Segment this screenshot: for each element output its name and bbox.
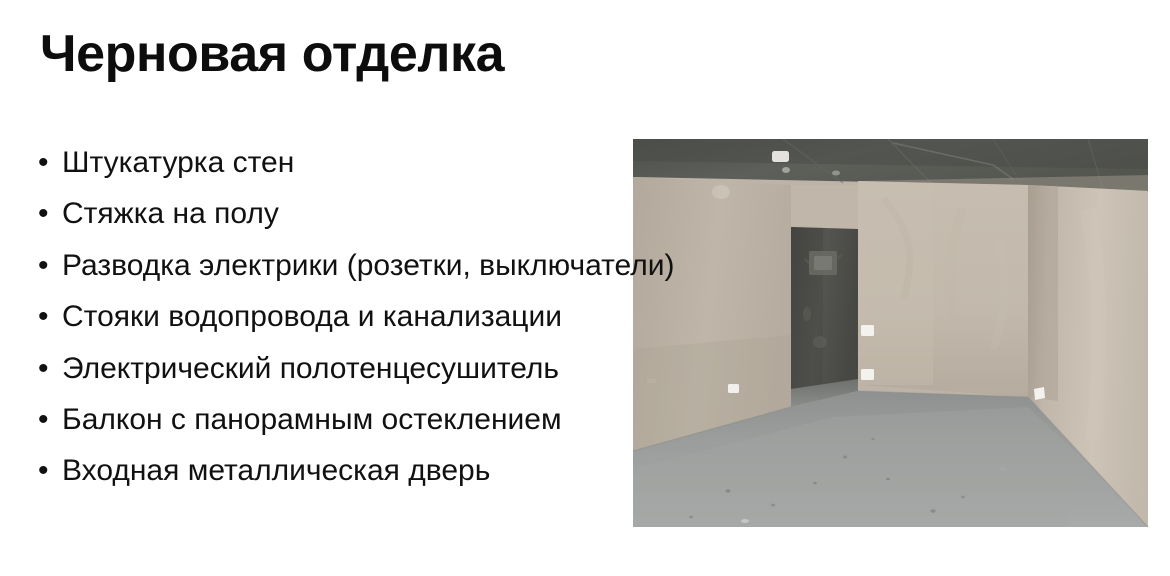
- page-title: Черновая отделка: [40, 26, 504, 82]
- list-item: • Балкон с панорамным остеклением: [38, 398, 898, 449]
- list-item: • Стояки водопровода и канализации: [38, 295, 898, 346]
- list-item: • Входная металлическая дверь: [38, 449, 898, 500]
- slide-root: Черновая отделка • Штукатурка стен • Стя…: [0, 0, 1170, 576]
- list-item: • Штукатурка стен: [38, 141, 898, 192]
- list-item: • Стяжка на полу: [38, 192, 898, 243]
- bullet-icon: •: [38, 347, 62, 391]
- bullet-icon: •: [38, 295, 62, 339]
- list-item-label: Штукатурка стен: [62, 141, 294, 185]
- bullet-icon: •: [38, 449, 62, 493]
- list-item-label: Стояки водопровода и канализации: [62, 295, 562, 339]
- bullet-icon: •: [38, 398, 62, 442]
- list-item: • Разводка электрики (розетки, выключате…: [38, 244, 898, 295]
- list-item-label: Электрический полотенцесушитель: [62, 347, 559, 391]
- bullet-icon: •: [38, 141, 62, 185]
- list-item-label: Стяжка на полу: [62, 192, 279, 236]
- list-item: • Электрический полотенцесушитель: [38, 347, 898, 398]
- list-item-label: Входная металлическая дверь: [62, 449, 490, 493]
- bullet-icon: •: [38, 192, 62, 236]
- list-item-label: Балкон с панорамным остеклением: [62, 398, 562, 442]
- bullet-icon: •: [38, 244, 62, 288]
- feature-bullet-list: • Штукатурка стен • Стяжка на полу • Раз…: [38, 141, 898, 501]
- list-item-label: Разводка электрики (розетки, выключатели…: [62, 244, 674, 288]
